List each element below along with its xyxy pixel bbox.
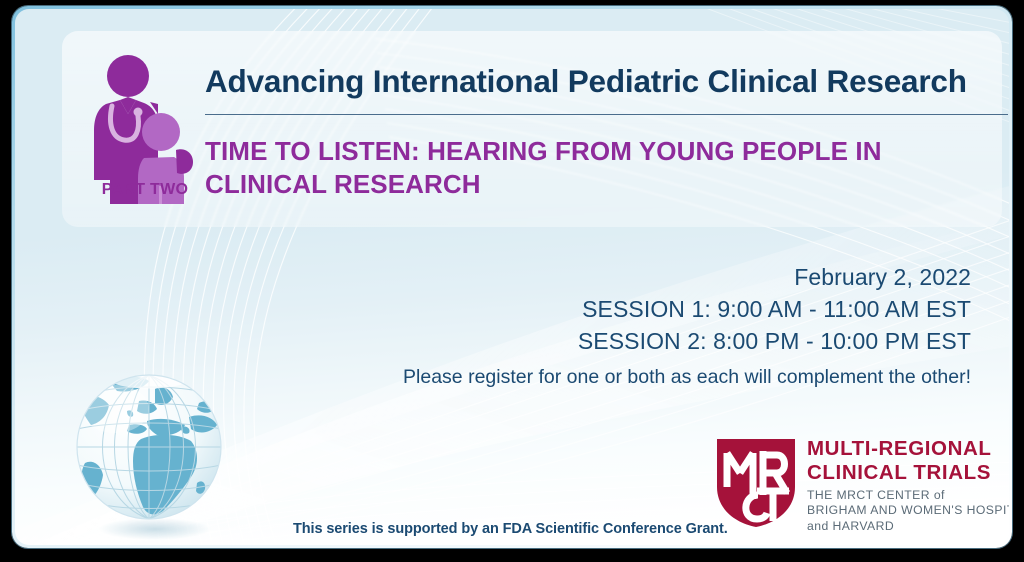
logo-affiliation-line-2: BRIGHAM AND WOMEN'S HOSPITAL: [807, 503, 1007, 518]
logo-name-line-1: MULTI-REGIONAL: [807, 437, 1007, 461]
page-title: Advancing International Pediatric Clinic…: [205, 63, 1005, 100]
part-label: PART TWO: [75, 181, 215, 199]
session-details: February 2, 2022 SESSION 1: 9:00 AM - 11…: [403, 261, 971, 393]
logo-affiliation-line-3: and HARVARD: [807, 519, 1007, 534]
logo-name-line-2: CLINICAL TRIALS: [807, 461, 1007, 485]
session-1-time: SESSION 1: 9:00 AM - 11:00 AM EST: [403, 293, 971, 325]
logo-affiliation-line-1: THE MRCT CENTER of: [807, 488, 1007, 503]
subtitle-line-1: TIME TO LISTEN: HEARING FROM YOUNG PEOPL…: [205, 135, 995, 168]
mrct-logo-text: MULTI-REGIONAL CLINICAL TRIALS THE MRCT …: [807, 437, 1007, 534]
globe-icon: [63, 367, 241, 545]
event-date: February 2, 2022: [403, 261, 971, 293]
grant-credit: This series is supported by an FDA Scien…: [293, 521, 728, 537]
mrct-shield-icon: [715, 437, 797, 529]
subtitle-line-2: CLINICAL RESEARCH: [205, 168, 995, 201]
registration-note: Please register for one or both as each …: [403, 361, 971, 393]
session-subtitle: TIME TO LISTEN: HEARING FROM YOUNG PEOPL…: [205, 135, 995, 201]
title-divider: [205, 114, 1008, 115]
flyer-card: PART TWO Advancing International Pediatr…: [15, 9, 1009, 545]
flyer-card-border: PART TWO Advancing International Pediatr…: [12, 6, 1012, 548]
flyer-canvas: PART TWO Advancing International Pediatr…: [0, 0, 1024, 562]
session-2-time: SESSION 2: 8:00 PM - 10:00 PM EST: [403, 325, 971, 357]
mrct-logo: MULTI-REGIONAL CLINICAL TRIALS THE MRCT …: [715, 437, 1007, 539]
